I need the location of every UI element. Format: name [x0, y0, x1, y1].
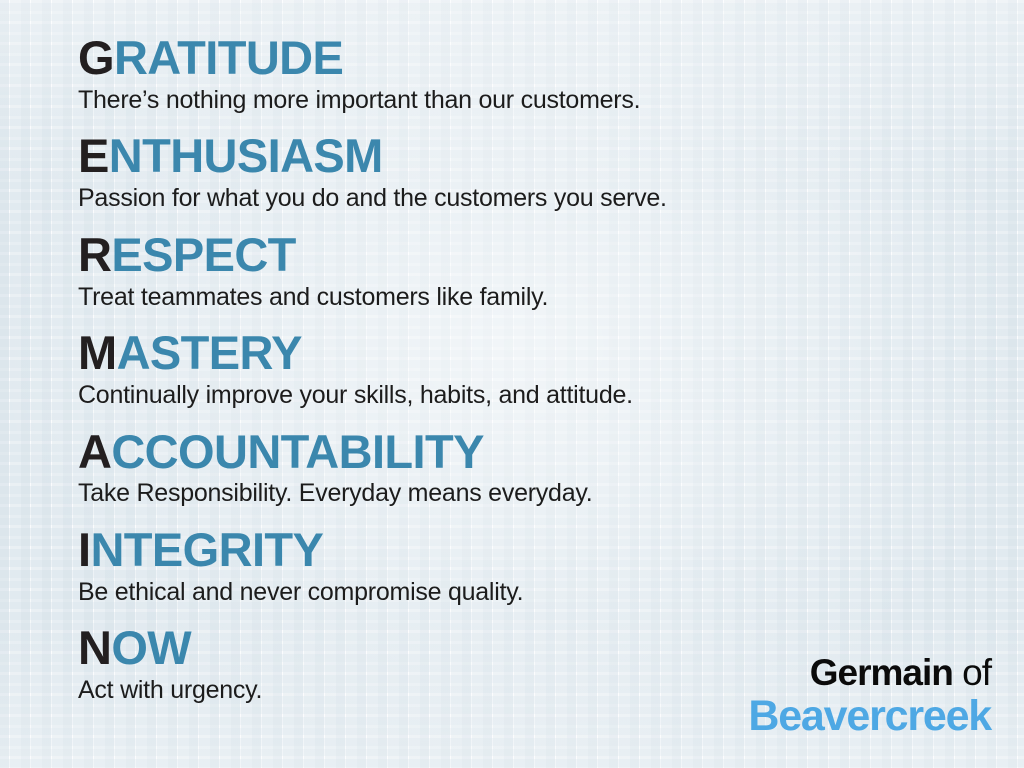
value-word-rest: OW [111, 621, 191, 674]
value-description-respect: Treat teammates and customers like famil… [78, 282, 994, 314]
value-word-rest: NTEGRITY [90, 523, 323, 576]
value-word-rest: NTHUSIASM [109, 129, 383, 182]
value-initial: E [78, 129, 109, 182]
value-word-rest: CCOUNTABILITY [111, 425, 484, 478]
value-block-mastery: MASTERY Continually improve your skills,… [78, 329, 994, 411]
value-block-integrity: INTEGRITY Be ethical and never compromis… [78, 526, 994, 608]
logo-location: Beavercreek [748, 695, 991, 738]
value-initial: N [78, 621, 111, 674]
value-block-enthusiasm: ENTHUSIASM Passion for what you do and t… [78, 132, 994, 214]
value-heading-respect: RESPECT [78, 231, 994, 280]
dealership-logo: Germain of Beavercreek [748, 654, 991, 738]
value-description-gratitude: There’s nothing more important than our … [78, 85, 994, 117]
value-description-mastery: Continually improve your skills, habits,… [78, 380, 994, 412]
logo-brand-name: Germain [810, 652, 953, 693]
value-initial: G [78, 31, 114, 84]
value-heading-accountability: ACCOUNTABILITY [78, 428, 994, 477]
value-description-integrity: Be ethical and never compromise quality. [78, 577, 994, 609]
value-block-respect: RESPECT Treat teammates and customers li… [78, 231, 994, 313]
value-block-gratitude: GRATITUDE There’s nothing more important… [78, 34, 994, 116]
value-heading-mastery: MASTERY [78, 329, 994, 378]
value-description-accountability: Take Responsibility. Everyday means ever… [78, 478, 994, 510]
value-heading-gratitude: GRATITUDE [78, 34, 994, 83]
value-initial: A [78, 425, 111, 478]
value-initial: I [78, 523, 90, 576]
value-heading-integrity: INTEGRITY [78, 526, 994, 575]
value-description-enthusiasm: Passion for what you do and the customer… [78, 183, 994, 215]
value-block-accountability: ACCOUNTABILITY Take Responsibility. Ever… [78, 428, 994, 510]
value-word-rest: RATITUDE [114, 31, 343, 84]
logo-connector: of [953, 652, 991, 693]
logo-brand-line: Germain of [748, 654, 991, 691]
value-word-rest: ASTERY [117, 326, 302, 379]
value-initial: M [78, 326, 117, 379]
value-word-rest: ESPECT [111, 228, 295, 281]
value-initial: R [78, 228, 111, 281]
value-heading-enthusiasm: ENTHUSIASM [78, 132, 994, 181]
